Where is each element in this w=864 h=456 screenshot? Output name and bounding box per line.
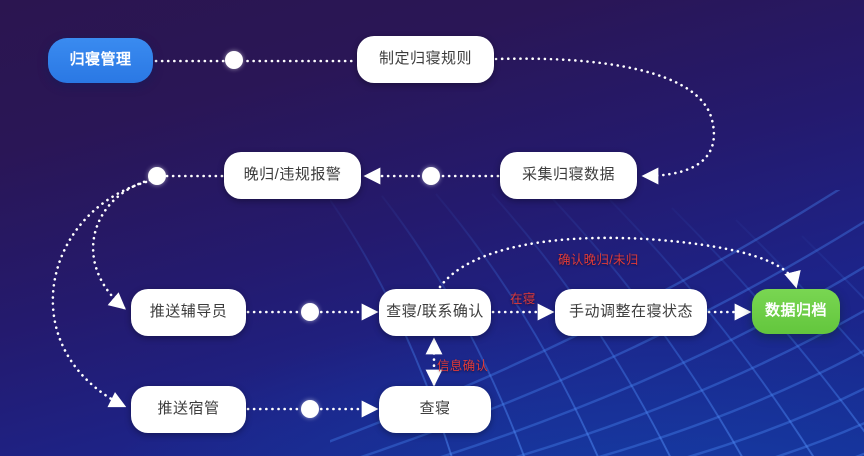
- node-push-dorm-manager-label: 推送宿管: [157, 401, 219, 418]
- hub-dot-pushfd-check: [301, 303, 319, 321]
- node-check-dorm[interactable]: 查寝: [379, 386, 491, 433]
- node-collect-data[interactable]: 采集归寝数据: [500, 152, 637, 199]
- edge-label-info-confirm: 信息确认: [437, 355, 488, 374]
- edge-hub-to-pushsg: [53, 182, 146, 406]
- node-push-counselor-label: 推送辅导员: [150, 304, 228, 321]
- node-late-alarm-label: 晚归/违规报警: [244, 167, 342, 184]
- hub-dot-start-rule: [225, 51, 243, 69]
- hub-dot-branch: [148, 167, 166, 185]
- node-check-and-contact[interactable]: 查寝/联系确认: [379, 289, 491, 336]
- node-start[interactable]: 归寝管理: [48, 38, 153, 83]
- node-late-alarm[interactable]: 晚归/违规报警: [224, 152, 361, 199]
- node-manual-adjust-label: 手动调整在寝状态: [569, 304, 693, 321]
- node-make-rule-label: 制定归寝规则: [379, 51, 472, 68]
- node-collect-data-label: 采集归寝数据: [522, 167, 615, 184]
- edge-hub-to-pushfd: [93, 180, 150, 308]
- node-data-archive-label: 数据归档: [765, 303, 827, 320]
- node-make-rule[interactable]: 制定归寝规则: [357, 36, 494, 83]
- node-start-label: 归寝管理: [69, 52, 131, 69]
- node-push-dorm-manager[interactable]: 推送宿管: [131, 386, 246, 433]
- edge-label-in-dorm: 在寝: [510, 288, 536, 307]
- node-check-and-contact-label: 查寝/联系确认: [386, 304, 484, 321]
- flowchart-canvas: 归寝管理 制定归寝规则 采集归寝数据 晚归/违规报警 推送辅导员 推送宿管 查寝…: [0, 0, 864, 456]
- hub-dot-collect-alarm: [422, 167, 440, 185]
- node-manual-adjust[interactable]: 手动调整在寝状态: [555, 289, 707, 336]
- node-check-dorm-label: 查寝: [419, 401, 450, 418]
- edge-label-confirm-late: 确认晚归/未归: [558, 249, 639, 268]
- node-data-archive[interactable]: 数据归档: [752, 289, 840, 334]
- node-push-counselor[interactable]: 推送辅导员: [131, 289, 246, 336]
- hub-dot-pushsg-check: [301, 400, 319, 418]
